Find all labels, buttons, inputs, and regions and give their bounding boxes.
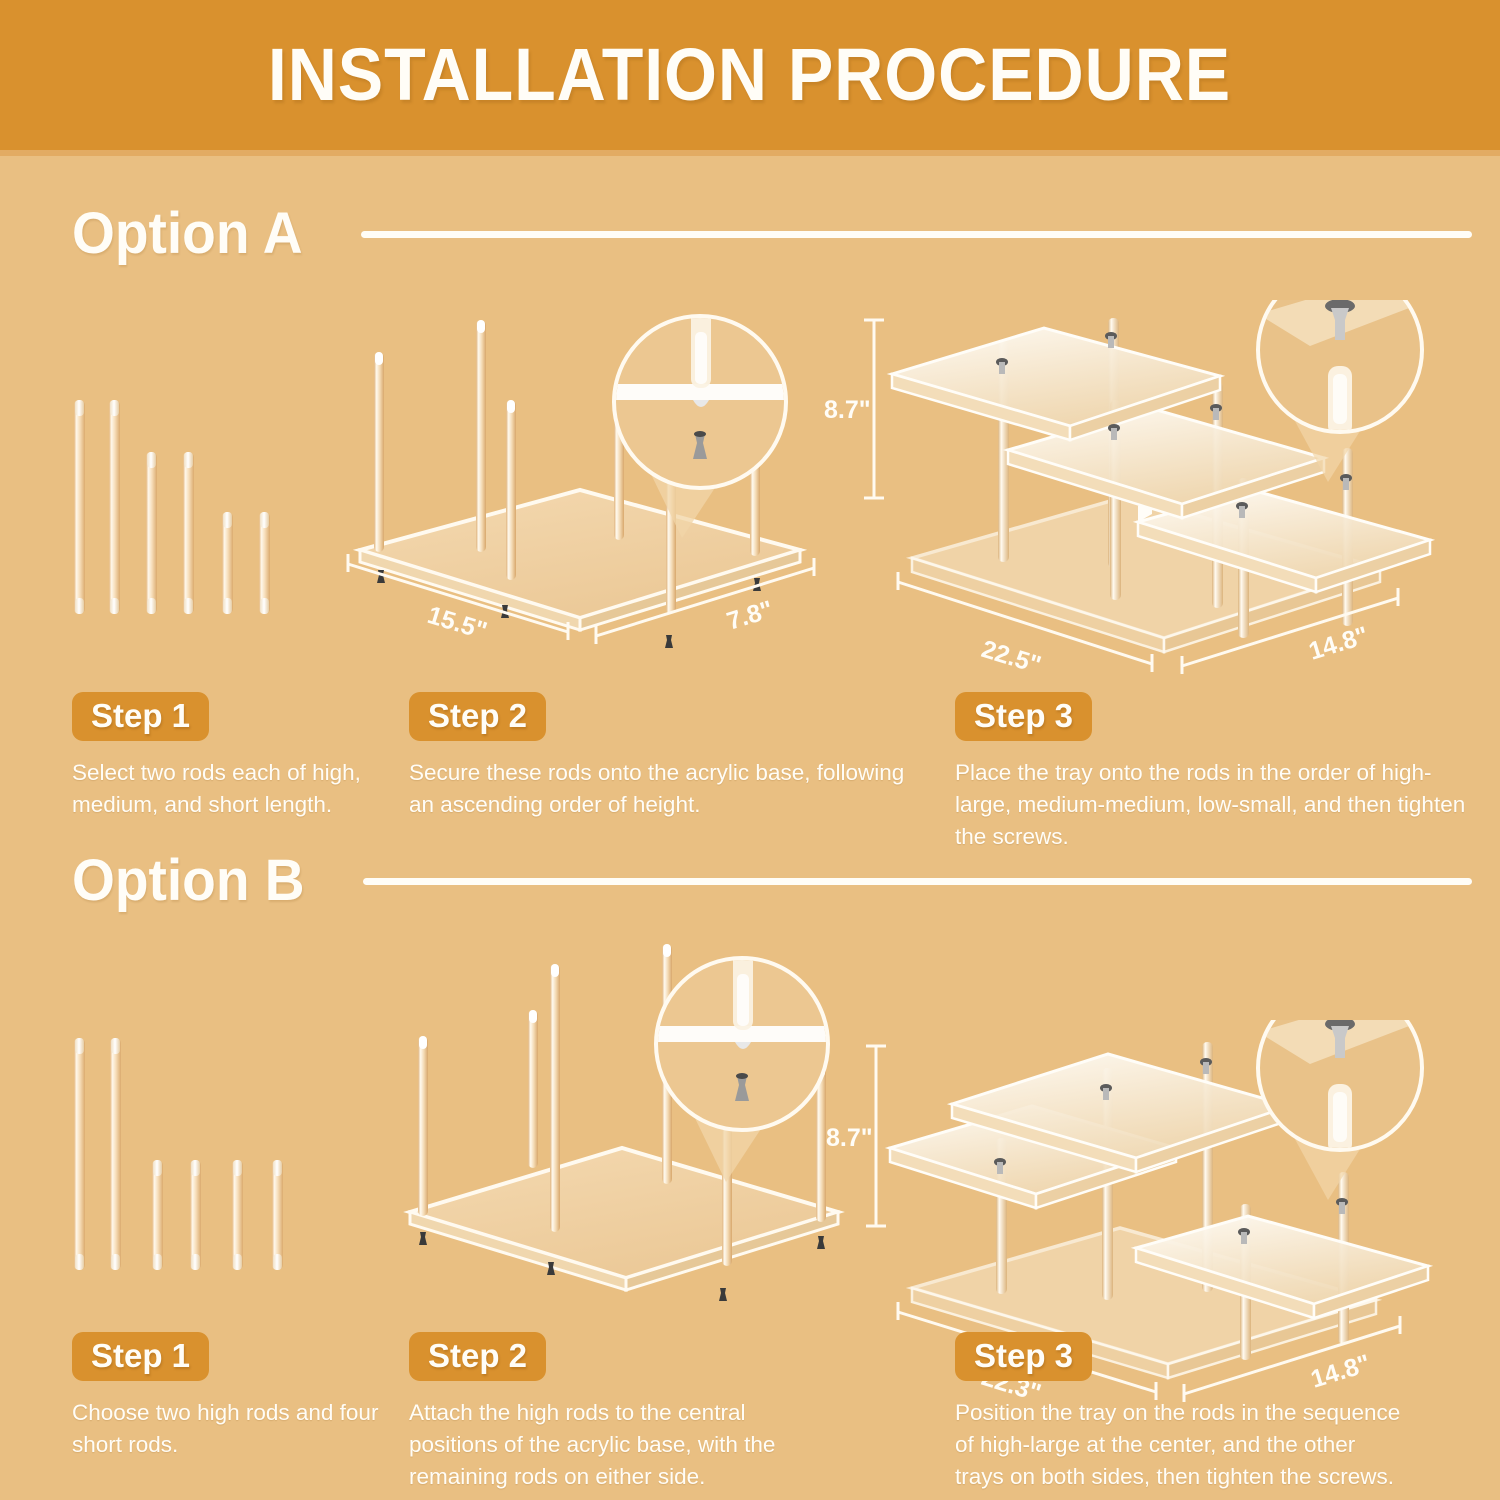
dimension-height-label: 8.7" [826,1124,873,1152]
rod-short-2 [190,1160,201,1270]
step-description: Choose two high rods and four short rods… [72,1397,402,1461]
step-badge: Step 1 [72,692,209,741]
option-a-label: Option A [72,205,303,263]
option-b-step2-diagram [390,940,870,1320]
step-badge: Step 2 [409,1332,546,1381]
option-b-step-3: Step 3 Position the tray on the rods in … [955,1332,1405,1493]
option-a-step-1: Step 1 Select two rods each of high, med… [72,692,402,821]
option-b-step-2: Step 2 Attach the high rods to the centr… [409,1332,809,1493]
option-b-step-1: Step 1 Choose two high rods and four sho… [72,1332,402,1461]
option-b-label: Option B [72,852,305,910]
step-badge: Step 2 [409,692,546,741]
rod-high-1 [74,400,85,614]
option-a-step-3: Step 3 Place the tray onto the rods in t… [955,692,1475,853]
rod-short-1 [222,512,233,614]
step-badge: Step 1 [72,1332,209,1381]
header-banner: INSTALLATION PROCEDURE [0,0,1500,150]
acrylic-base [410,1148,838,1290]
rod-short-1 [152,1160,163,1270]
option-b-step1-diagram [50,1020,330,1290]
dimension-depth-label: 7.8" [724,595,777,635]
tray-screw-detail-callout [1258,1020,1430,1200]
dimension-height-label: 8.7" [824,396,871,424]
rod-medium-2 [183,452,194,614]
option-a-step3-diagram: 8.7" 22.5" 14.8" [820,300,1480,700]
option-a-step1-diagram [50,380,330,640]
rod-on-base-short-2 [528,1010,538,1168]
step-description: Place the tray onto the rods in the orde… [955,757,1475,853]
step-description: Position the tray on the rods in the seq… [955,1397,1405,1493]
rod-on-base-high-1 [550,964,560,1232]
step-description: Secure these rods onto the acrylic base,… [409,757,929,821]
option-a-header: Option A [72,205,1472,263]
option-a-step2-diagram: 15.5" 7.8" [330,300,850,680]
rod-short-3 [232,1160,243,1270]
step-badge: Step 3 [955,1332,1092,1381]
rod-screw-detail-callout [614,310,786,538]
rod-on-base-short-1 [418,1036,428,1216]
rod-short-4 [272,1160,283,1270]
dimension-width-label: 15.5" [424,601,490,645]
option-b-rule [363,878,1472,885]
step-description: Attach the high rods to the central posi… [409,1397,809,1493]
rod-high-2 [110,1038,121,1270]
option-b-header: Option B [72,852,1472,910]
rod-short-2 [259,512,270,614]
rod-on-base-3 [506,400,516,580]
step-description: Select two rods each of high, medium, an… [72,757,402,821]
option-a-step-2: Step 2 Secure these rods onto the acryli… [409,692,929,821]
step-badge: Step 3 [955,692,1092,741]
rod-on-base-1 [374,352,384,552]
dimension-depth-label: 14.8" [1306,621,1372,665]
banner-underline [0,150,1500,156]
rod-on-base-2 [476,320,486,552]
rod-high-2 [109,400,120,614]
page-title: INSTALLATION PROCEDURE [268,38,1231,112]
rod-screw-detail-callout [656,952,828,1182]
dimension-width-label: 22.5" [978,635,1044,679]
rod-medium-1 [146,452,157,614]
rod-high-1 [74,1038,85,1270]
option-a-rule [361,231,1472,238]
